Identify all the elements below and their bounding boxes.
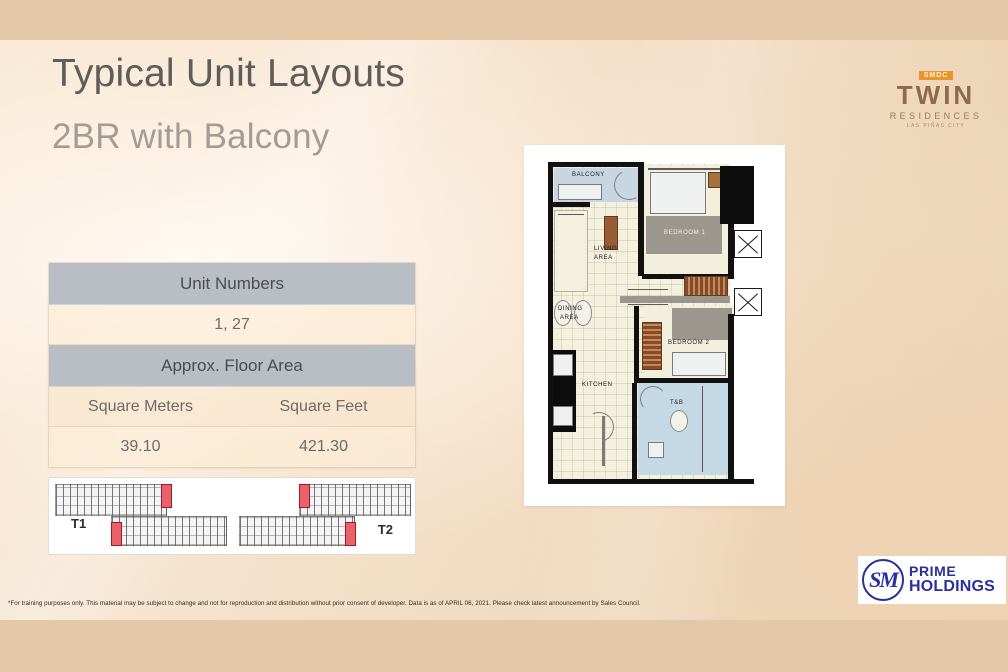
wall-tb-left [632, 383, 637, 479]
label-balcony: BALCONY [572, 172, 605, 178]
wall-bottom-boundary [548, 479, 754, 484]
twin-residences-logo: SMDC TWIN RESIDENCES LAS PIÑAS CITY [878, 64, 994, 129]
column-header-square-feet: Square Feet [232, 398, 415, 416]
label-living-line1: LIVING [594, 246, 617, 252]
keyplan-tower-label-t1: T1 [71, 516, 86, 531]
twin-wordmark: TWIN [878, 82, 994, 108]
wall-right-boundary-bath [728, 383, 734, 479]
bedroom1-headboard [650, 172, 706, 214]
floor-plan-card: BALCONY LIVING AREA DINING AREA KITCHEN [524, 145, 785, 506]
balcony-rail-fixture [558, 184, 602, 200]
bedroom2-bed [672, 308, 732, 340]
bedroom2-wardrobe [642, 322, 662, 370]
label-bedroom-2: BEDROOM 2 [668, 340, 709, 346]
kitchen-sink [553, 354, 573, 376]
dining-chair-left [554, 300, 572, 326]
living-tv-console [604, 216, 618, 250]
bath-lavatory [670, 410, 688, 432]
living-sofa-detail [558, 214, 584, 215]
city-label: LAS PIÑAS CITY [878, 123, 994, 129]
floor-plan-drawing: BALCONY LIVING AREA DINING AREA KITCHEN [542, 154, 767, 494]
keyplan-t2-wing-lower [239, 516, 355, 546]
value-square-meters: 39.10 [49, 438, 232, 456]
slide-root: Typical Unit Layouts 2BR with Balcony Un… [0, 0, 1008, 672]
dimension-arrow-lower [628, 304, 668, 305]
table-header-floor-area: Approx. Floor Area [49, 345, 415, 387]
wall-balcony-bottom [550, 202, 590, 207]
wall-top-boundary [550, 162, 644, 167]
sm-wordmark: PRIME HOLDINGS [909, 564, 995, 595]
sm-prime-holdings-logo: SM PRIME HOLDINGS [858, 556, 1006, 604]
kitchen-range [553, 406, 573, 426]
keyplan-t2-wing-upper [299, 484, 411, 516]
keyplan-t1-unit-marker-b [111, 522, 122, 546]
label-living-line2: AREA [594, 255, 613, 261]
sm-holdings-text: HOLDINGS [909, 579, 995, 596]
wall-right-boundary-lower [728, 314, 734, 380]
bedroom1-wardrobe [684, 276, 728, 296]
label-kitchen: KITCHEN [582, 382, 613, 388]
sm-monogram-icon: SM [862, 559, 904, 601]
smdc-badge: SMDC [919, 71, 954, 80]
page-title: Typical Unit Layouts [52, 52, 405, 96]
window-bedroom1 [734, 230, 762, 258]
room-living-area [554, 210, 588, 292]
column-header-square-meters: Square Meters [49, 398, 232, 416]
floor-area-header-label: Approx. Floor Area [49, 356, 415, 376]
table-row-unit-numbers: 1, 27 [49, 305, 415, 345]
table-row-area-columns: Square Meters Square Feet [49, 387, 415, 427]
entry-door-jamb [602, 416, 605, 466]
corridor-counter [620, 296, 730, 303]
keyplan-t1-unit-marker-a [161, 484, 172, 508]
label-bedroom-1: BEDROOM 1 [664, 230, 705, 236]
bath-water-closet [648, 442, 664, 458]
value-square-feet: 421.30 [232, 438, 415, 456]
label-toilet-bath: T&B [670, 400, 683, 406]
dining-chair-right [574, 300, 592, 326]
wall-bedroom2-left [634, 306, 639, 378]
keyplan-t1-wing-lower [111, 516, 227, 546]
keyplan-t2-unit-marker-b [345, 522, 356, 546]
label-dining-line2: AREA [560, 315, 579, 321]
key-plan: T1 T2 [48, 477, 416, 555]
bedroom1-curtain-rail [648, 168, 726, 170]
dimension-arrow-upper [628, 289, 668, 290]
service-shaft-upper [720, 166, 754, 224]
window-bedroom2 [734, 288, 762, 316]
table-header-unit-numbers: Unit Numbers [49, 263, 415, 305]
unit-numbers-value: 1, 27 [49, 316, 415, 334]
keyplan-tower-label-t2: T2 [378, 522, 393, 537]
sm-prime-text: PRIME [909, 564, 995, 579]
wall-left-boundary [548, 162, 553, 484]
table-row-area-values: 39.10 421.30 [49, 427, 415, 467]
disclaimer-text: *For training purposes only. This materi… [8, 600, 848, 607]
keyplan-t1-wing-upper [55, 484, 167, 516]
label-dining-line1: DINING [558, 306, 583, 312]
keyplan-t2-unit-marker-a [299, 484, 310, 508]
bath-shower-divider [702, 386, 703, 472]
bedroom2-headboard [672, 352, 726, 376]
residences-wordmark: RESIDENCES [878, 111, 994, 121]
unit-info-table: Unit Numbers 1, 27 Approx. Floor Area Sq… [48, 262, 416, 468]
unit-numbers-header-label: Unit Numbers [49, 274, 415, 294]
page-subtitle: 2BR with Balcony [52, 117, 330, 157]
